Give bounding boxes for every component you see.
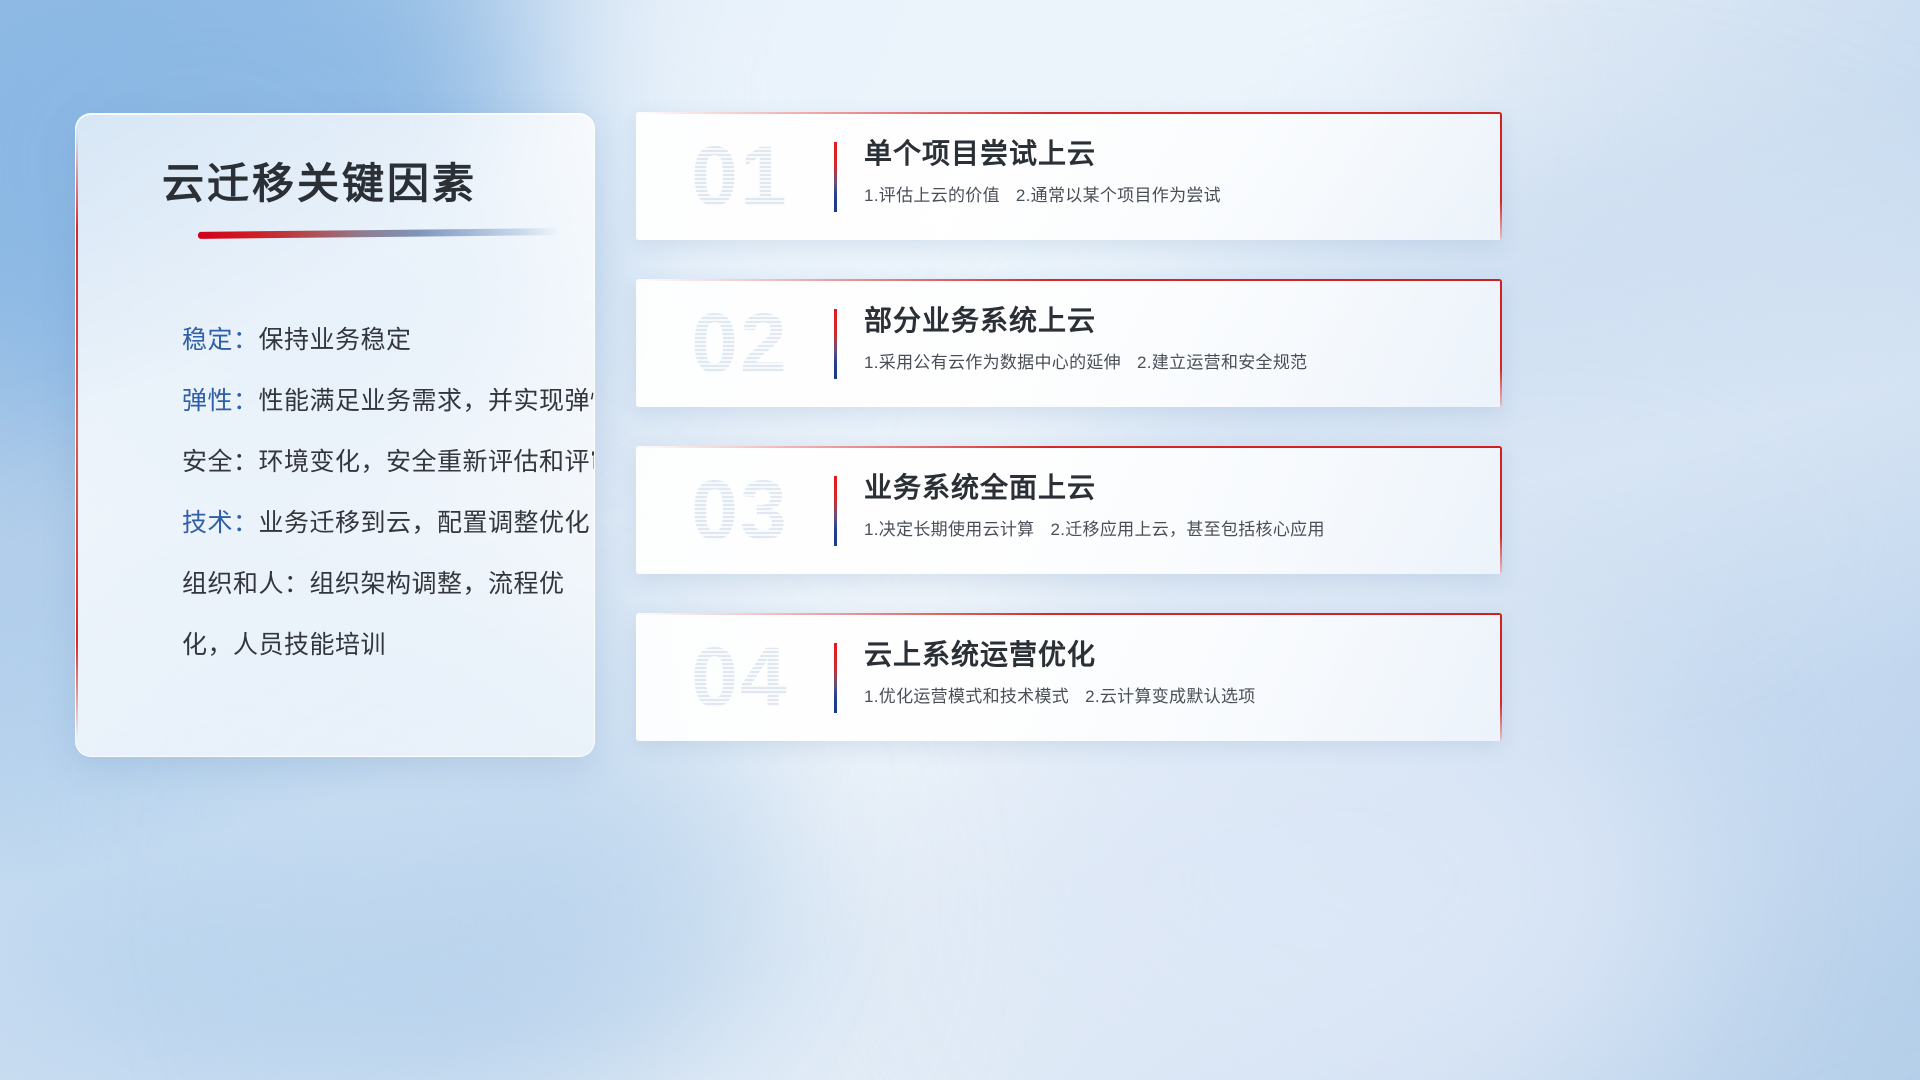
- list-item-label: 弹性：: [182, 387, 259, 415]
- list-item-label: 技术：: [182, 509, 259, 537]
- stage-point-1: 1.优化运营模式和技术模式: [864, 687, 1069, 706]
- stage-point-1: 1.采用公有云作为数据中心的延伸: [864, 353, 1121, 372]
- stage-number: 01: [660, 126, 820, 226]
- stage-point-2: 2.通常以某个项目作为尝试: [1016, 186, 1221, 205]
- stage-title: 业务系统全面上云: [864, 468, 1466, 508]
- list-item: 弹性：性能满足业务需求，并实现弹性: [108, 371, 570, 432]
- stage-point-2: 2.云计算变成默认选项: [1085, 687, 1255, 706]
- stage-title: 单个项目尝试上云: [864, 134, 1466, 174]
- stage-number: 02: [660, 293, 820, 393]
- title-underline-accent: [198, 228, 560, 239]
- stage-description: 1.采用公有云作为数据中心的延伸2.建立运营和安全规范: [864, 351, 1466, 375]
- list-item-label: 组织和人：: [182, 570, 310, 598]
- stage-card-list: 01 单个项目尝试上云 1.评估上云的价值2.通常以某个项目作为尝试 02 部分…: [636, 112, 1502, 780]
- list-item-text: 业务迁移到云，配置调整优化: [259, 509, 591, 537]
- stage-divider-bar: [834, 142, 837, 212]
- list-item-label: 安全：: [182, 448, 259, 476]
- stage-card-body: 部分业务系统上云 1.采用公有云作为数据中心的延伸2.建立运营和安全规范: [864, 301, 1466, 375]
- stage-number: 03: [660, 460, 820, 560]
- stage-point-1: 1.评估上云的价值: [864, 186, 1000, 205]
- stage-number: 04: [660, 627, 820, 727]
- stage-point-2: 2.迁移应用上云，甚至包括核心应用: [1050, 520, 1324, 539]
- stage-card[interactable]: 02 部分业务系统上云 1.采用公有云作为数据中心的延伸2.建立运营和安全规范: [636, 279, 1502, 407]
- key-factors-list: 稳定：保持业务稳定 弹性：性能满足业务需求，并实现弹性 安全：环境变化，安全重新…: [108, 310, 570, 676]
- stage-description: 1.决定长期使用云计算2.迁移应用上云，甚至包括核心应用: [864, 518, 1466, 542]
- stage-description: 1.评估上云的价值2.通常以某个项目作为尝试: [864, 184, 1466, 208]
- stage-point-2: 2.建立运营和安全规范: [1137, 353, 1307, 372]
- stage-point-1: 1.决定长期使用云计算: [864, 520, 1034, 539]
- list-item-text: 性能满足业务需求，并实现弹性: [259, 387, 595, 415]
- stage-divider-bar: [834, 476, 837, 546]
- list-item-text: 保持业务稳定: [259, 326, 412, 354]
- list-item-text: 环境变化，安全重新评估和评审: [259, 448, 595, 476]
- stage-divider-bar: [834, 309, 837, 379]
- list-item: 稳定：保持业务稳定: [108, 310, 570, 371]
- stage-card-body: 云上系统运营优化 1.优化运营模式和技术模式2.云计算变成默认选项: [864, 635, 1466, 709]
- list-item: 组织和人：组织架构调整，流程优化，人员技能培训: [108, 554, 570, 676]
- stage-card-body: 业务系统全面上云 1.决定长期使用云计算2.迁移应用上云，甚至包括核心应用: [864, 468, 1466, 542]
- stage-divider-bar: [834, 643, 837, 713]
- stage-card[interactable]: 01 单个项目尝试上云 1.评估上云的价值2.通常以某个项目作为尝试: [636, 112, 1502, 240]
- page-title: 云迁移关键因素: [162, 160, 562, 208]
- stage-title: 云上系统运营优化: [864, 635, 1466, 675]
- list-item: 安全：环境变化，安全重新评估和评审: [108, 432, 570, 493]
- stage-title: 部分业务系统上云: [864, 301, 1466, 341]
- list-item-label: 稳定：: [182, 326, 259, 354]
- stage-description: 1.优化运营模式和技术模式2.云计算变成默认选项: [864, 685, 1466, 709]
- stage-card[interactable]: 04 云上系统运营优化 1.优化运营模式和技术模式2.云计算变成默认选项: [636, 613, 1502, 741]
- key-factors-panel: 云迁移关键因素 稳定：保持业务稳定 弹性：性能满足业务需求，并实现弹性 安全：环…: [75, 113, 595, 757]
- stage-card[interactable]: 03 业务系统全面上云 1.决定长期使用云计算2.迁移应用上云，甚至包括核心应用: [636, 446, 1502, 574]
- list-item: 技术：业务迁移到云，配置调整优化: [108, 493, 570, 554]
- stage-card-body: 单个项目尝试上云 1.评估上云的价值2.通常以某个项目作为尝试: [864, 134, 1466, 208]
